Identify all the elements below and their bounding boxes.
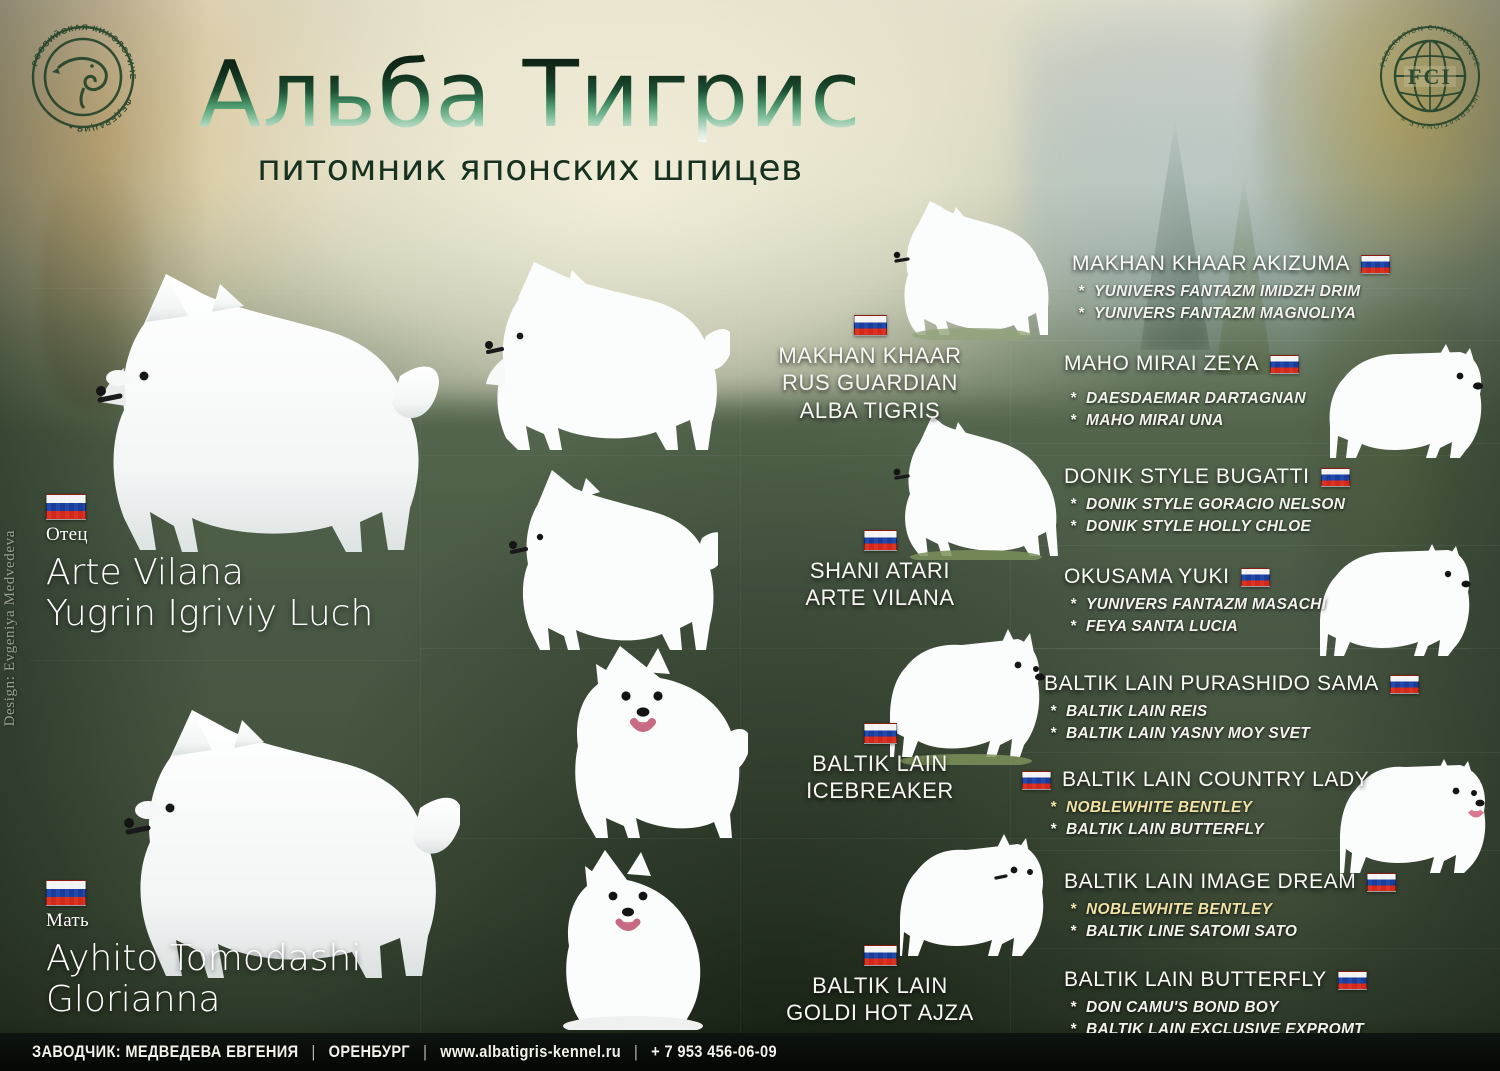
ancestor-name: MAHO MIRAI UNA — [1086, 412, 1224, 429]
name-row: DONIK STYLE BUGATTI — [1064, 465, 1350, 489]
ancestor-list: *NOBLEWHITE BENTLEY *BALTIK LAIN BUTTERF… — [1044, 797, 1369, 841]
great-grandparent-name: BALTIK LAIN BUTTERFLY — [1064, 968, 1327, 992]
name-row: MAHO MIRAI ZEYA — [1064, 352, 1306, 376]
ancestor-item: *DONIK STYLE HOLLY CHLOE — [1064, 516, 1350, 538]
ancestor-name: DONIK STYLE GORACIO NELSON — [1086, 496, 1345, 513]
russia-flag-icon — [1270, 355, 1299, 374]
star-marker: * — [1070, 921, 1086, 943]
name-row: MAKHAN KHAAR AKIZUMA — [1072, 252, 1390, 276]
grandparent-entry: MAKHAN KHAAR RUS GUARDIAN ALBA TIGRIS — [755, 315, 985, 424]
footer-separator: | — [303, 1042, 324, 1061]
row-divider — [1010, 752, 1500, 753]
dog-photo-grandparent-2 — [498, 460, 718, 650]
grandparent-name: BALTIK LAIN ICEBREAKER — [765, 750, 995, 805]
ancestor-item: *DON CAMU'S BOND BOY — [1064, 997, 1367, 1019]
great-grandparent-entry: BALTIK LAIN PURASHIDO SAMA *BALTIK LAIN … — [1044, 672, 1419, 745]
name-row: BALTIK LAIN IMAGE DREAM — [1064, 870, 1396, 894]
star-marker: * — [1050, 701, 1066, 723]
ancestor-name: FEYA SANTA LUCIA — [1086, 618, 1238, 635]
footer-phone: + 7 953 456-06-09 — [651, 1042, 777, 1061]
great-grandparent-name: BALTIK LAIN COUNTRY LADY — [1062, 768, 1369, 792]
page-title: Альба Тигрис — [0, 48, 1060, 142]
footer-city: ОРЕНБУРГ — [329, 1042, 410, 1061]
russia-flag-icon — [1338, 971, 1367, 990]
russia-flag-icon — [1022, 771, 1051, 790]
row-divider — [1010, 948, 1500, 949]
parent-father: Отец Arte Vilana Yugrin Igriviy Luch — [46, 494, 373, 634]
panel-seam — [30, 660, 420, 661]
parent-role-label: Отец — [46, 524, 373, 546]
ancestor-name: YUNIVERS FANTAZM MASACHI — [1086, 596, 1326, 613]
ancestor-name: BALTIK LAIN YASNY MOY SVET — [1066, 725, 1310, 742]
ancestor-name: BALTIK LAIN REIS — [1066, 703, 1207, 720]
flag-wrap — [755, 315, 985, 336]
ancestor-list: *NOBLEWHITE BENTLEY *BALTIK LINE SATOMI … — [1064, 899, 1396, 943]
ancestor-item: *BALTIK LAIN REIS — [1044, 701, 1419, 723]
parent-mother: Мать Ayhito Tomodashi Glorianna — [46, 880, 361, 1020]
dog-photo-ggp-4 — [1320, 540, 1480, 660]
ancestor-item: *BALTIK LAIN YASNY MOY SVET — [1044, 723, 1419, 745]
flag-wrap — [46, 494, 373, 520]
flag-wrap — [765, 945, 995, 966]
great-grandparent-entry: DONIK STYLE BUGATTI *DONIK STYLE GORACIO… — [1064, 465, 1350, 538]
footer-website[interactable]: www.albatigris-kennel.ru — [440, 1042, 621, 1061]
parent-name: Arte Vilana Yugrin Igriviy Luch — [46, 552, 373, 634]
footer-separator: | — [625, 1042, 646, 1061]
ancestor-list: *YUNIVERS FANTAZM MASACHI *FEYA SANTA LU… — [1064, 594, 1326, 638]
designer-credit: Design: Evgeniya Medvedeva — [2, 530, 19, 726]
russia-flag-icon — [1390, 675, 1419, 694]
name-row: BALTIK LAIN COUNTRY LADY — [1022, 768, 1369, 792]
star-marker: * — [1050, 723, 1066, 745]
russia-flag-icon — [1321, 468, 1350, 487]
ancestor-item: *YUNIVERS FANTAZM MASACHI — [1064, 594, 1326, 616]
ancestor-list: *YUNIVERS FANTAZM IMIDZH DRIM *YUNIVERS … — [1072, 281, 1390, 325]
great-grandparent-entry: BALTIK LAIN BUTTERFLY *DON CAMU'S BOND B… — [1064, 968, 1367, 1041]
ancestor-name: DON CAMU'S BOND BOY — [1086, 999, 1279, 1016]
ancestor-item: *NOBLEWHITE BENTLEY — [1064, 899, 1396, 921]
great-grandparent-name: BALTIK LAIN IMAGE DREAM — [1064, 870, 1356, 894]
great-grandparent-entry: MAHO MIRAI ZEYA *DAESDAEMAR DARTAGNAN *M… — [1064, 352, 1306, 432]
grandparent-entry: BALTIK LAIN ICEBREAKER — [765, 723, 995, 805]
star-marker: * — [1070, 494, 1086, 516]
star-marker: * — [1070, 516, 1086, 538]
fci-logo: FCI FEDERATION CYNOLOGIQUE INTERNATIONAL… — [1370, 16, 1490, 136]
ancestor-item: *DONIK STYLE GORACIO NELSON — [1064, 494, 1350, 516]
russia-flag-icon — [864, 530, 897, 551]
ancestor-name: YUNIVERS FANTAZM IMIDZH DRIM — [1094, 283, 1360, 300]
parent-role-label: Мать — [46, 910, 361, 932]
ancestor-item: *MAHO MIRAI UNA — [1064, 410, 1306, 432]
star-marker: * — [1050, 797, 1066, 819]
russia-flag-icon — [1361, 255, 1390, 274]
star-marker: * — [1070, 616, 1086, 638]
ancestor-list: *BALTIK LAIN REIS *BALTIK LAIN YASNY MOY… — [1044, 701, 1419, 745]
russia-flag-icon — [864, 723, 897, 744]
ancestor-item: *BALTIK LAIN BUTTERFLY — [1044, 819, 1369, 841]
ancestor-name: BALTIK LAIN BUTTERFLY — [1066, 821, 1264, 838]
ancestor-item: *BALTIK LINE SATOMI SATO — [1064, 921, 1396, 943]
star-marker: * — [1070, 388, 1086, 410]
star-marker: * — [1050, 819, 1066, 841]
grandparent-name: MAKHAN KHAAR RUS GUARDIAN ALBA TIGRIS — [755, 342, 985, 424]
great-grandparent-entry: OKUSAMA YUKI *YUNIVERS FANTAZM MASACHI *… — [1064, 565, 1326, 638]
parent-name: Ayhito Tomodashi Glorianna — [46, 938, 361, 1020]
rkf-logo: РОССИЙСКАЯ КИНОЛОГИЧЕСКАЯ ФЕДЕРАЦИЯ • — [22, 16, 144, 138]
flag-wrap — [46, 880, 361, 906]
footer-separator: | — [414, 1042, 435, 1061]
flag-wrap — [765, 723, 995, 744]
ancestor-item: *FEYA SANTA LUCIA — [1064, 616, 1326, 638]
ancestor-name: YUNIVERS FANTAZM MAGNOLIYA — [1094, 305, 1356, 322]
dog-photo-grandparent-4 — [545, 840, 725, 1030]
great-grandparent-entry: MAKHAN KHAAR AKIZUMA *YUNIVERS FANTAZM I… — [1072, 252, 1390, 325]
russia-flag-icon — [864, 945, 897, 966]
great-grandparent-name: MAHO MIRAI ZEYA — [1064, 352, 1259, 376]
footer-contact-line: ЗАВОДЧИК: МЕДВЕДЕВА ЕВГЕНИЯ | ОРЕНБУРГ |… — [32, 1042, 777, 1062]
ancestor-list: *DAESDAEMAR DARTAGNAN *MAHO MIRAI UNA — [1064, 388, 1306, 432]
russia-flag-icon — [46, 494, 86, 520]
name-row: OKUSAMA YUKI — [1064, 565, 1326, 589]
great-grandparent-entry: BALTIK LAIN IMAGE DREAM *NOBLEWHITE BENT… — [1064, 870, 1396, 943]
star-marker: * — [1078, 303, 1094, 325]
dog-photo-grandparent-3 — [548, 638, 748, 838]
ancestor-name: BALTIK LINE SATOMI SATO — [1086, 923, 1297, 940]
star-marker: * — [1070, 899, 1086, 921]
pedigree-poster: РОССИЙСКАЯ КИНОЛОГИЧЕСКАЯ ФЕДЕРАЦИЯ • — [0, 0, 1500, 1071]
russia-flag-icon — [854, 315, 887, 336]
footer-breeder: ЗАВОДЧИК: МЕДВЕДЕВА ЕВГЕНИЯ — [32, 1042, 298, 1061]
great-grandparent-name: DONIK STYLE BUGATTI — [1064, 465, 1310, 489]
great-grandparent-name: OKUSAMA YUKI — [1064, 565, 1230, 589]
ancestor-name: NOBLEWHITE BENTLEY — [1066, 799, 1252, 816]
dog-photo-ggp-7 — [900, 830, 1050, 960]
russia-flag-icon — [46, 880, 86, 906]
dog-photo-grandparent-1 — [470, 250, 730, 450]
ancestor-list: *DONIK STYLE GORACIO NELSON *DONIK STYLE… — [1064, 494, 1350, 538]
svg-text:FCI: FCI — [1408, 64, 1452, 89]
flag-wrap — [765, 530, 995, 551]
page-subtitle: питомник японских шпицев — [0, 148, 1060, 189]
star-marker: * — [1070, 410, 1086, 432]
great-grandparent-name: BALTIK LAIN PURASHIDO SAMA — [1044, 672, 1379, 696]
dog-photo-ggp-2 — [1328, 340, 1488, 460]
star-marker: * — [1078, 281, 1094, 303]
great-grandparent-name: MAKHAN KHAAR AKIZUMA — [1072, 252, 1350, 276]
ancestor-item: *YUNIVERS FANTAZM MAGNOLIYA — [1072, 303, 1390, 325]
ancestor-item: *NOBLEWHITE BENTLEY — [1044, 797, 1369, 819]
ancestor-name: DONIK STYLE HOLLY CHLOE — [1086, 518, 1311, 535]
svg-text:INTERNATIONALE ≡: INTERNATIONALE ≡ — [1398, 93, 1481, 131]
title-block: Альба Тигрис питомник японских шпицев — [0, 48, 1060, 189]
ancestor-name: DAESDAEMAR DARTAGNAN — [1086, 390, 1306, 407]
star-marker: * — [1070, 997, 1086, 1019]
grandparent-entry: SHANI ATARI ARTE VILANA — [765, 530, 995, 612]
grandparent-entry: BALTIK LAIN GOLDI HOT AJZA — [765, 945, 995, 1027]
russia-flag-icon — [1241, 568, 1270, 587]
grandparent-name: SHANI ATARI ARTE VILANA — [765, 557, 995, 612]
name-row: BALTIK LAIN PURASHIDO SAMA — [1044, 672, 1419, 696]
ancestor-item: *YUNIVERS FANTAZM IMIDZH DRIM — [1072, 281, 1390, 303]
russia-flag-icon — [1367, 873, 1396, 892]
grandparent-name: BALTIK LAIN GOLDI HOT AJZA — [765, 972, 995, 1027]
great-grandparent-entry: BALTIK LAIN COUNTRY LADY *NOBLEWHITE BEN… — [1022, 768, 1369, 841]
ancestor-item: *DAESDAEMAR DARTAGNAN — [1064, 388, 1306, 410]
footer-bar: ЗАВОДЧИК: МЕДВЕДЕВА ЕВГЕНИЯ | ОРЕНБУРГ |… — [0, 1033, 1500, 1071]
name-row: BALTIK LAIN BUTTERFLY — [1064, 968, 1367, 992]
ancestor-name: NOBLEWHITE BENTLEY — [1086, 901, 1272, 918]
star-marker: * — [1070, 594, 1086, 616]
